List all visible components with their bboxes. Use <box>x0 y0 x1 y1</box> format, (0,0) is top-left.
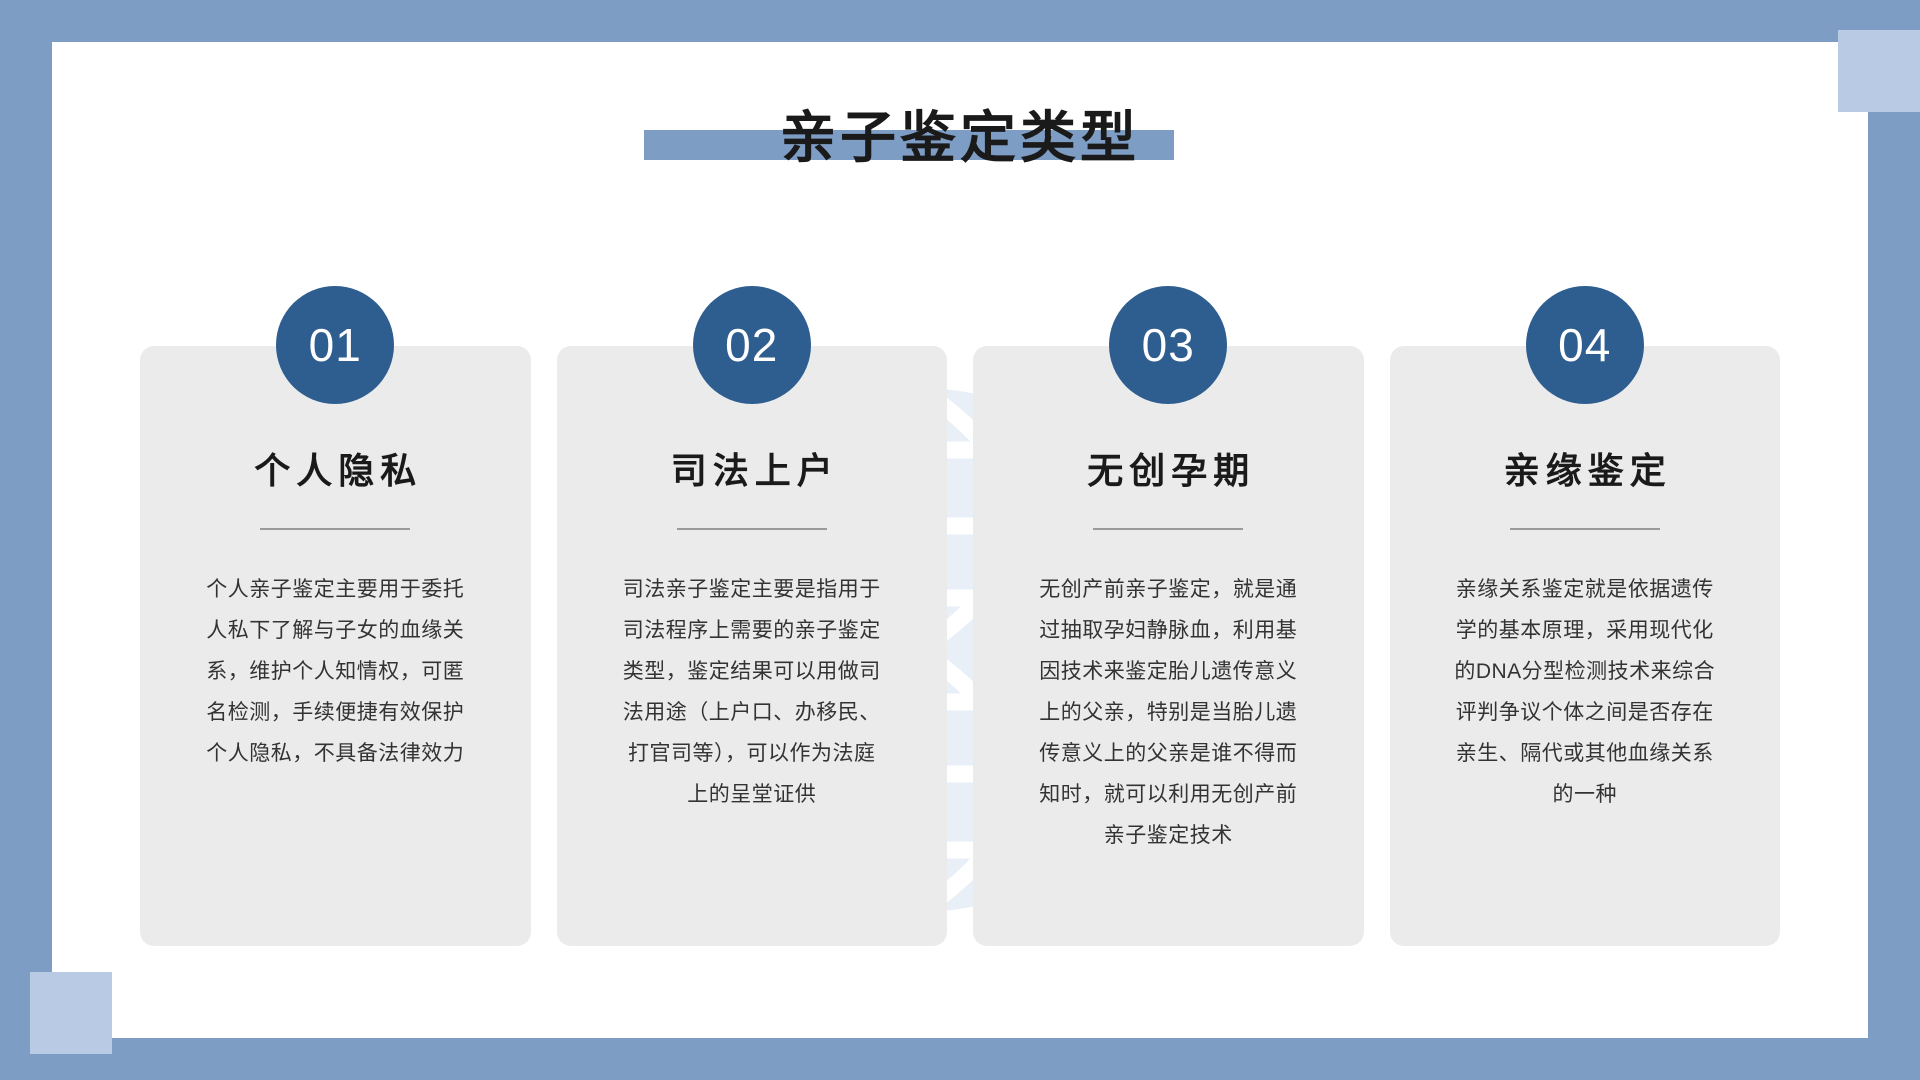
card-divider-04 <box>1510 528 1660 530</box>
title-wrap: 亲子鉴定类型 <box>774 110 1146 166</box>
card-body-02: 司法亲子鉴定主要是指用于司法程序上需要的亲子鉴定类型，鉴定结果可以用做司法用途（… <box>618 570 886 816</box>
accent-square-bottom-left <box>30 972 112 1054</box>
card-badge-01: 01 <box>276 286 394 404</box>
card-divider-01 <box>260 528 410 530</box>
slide-root: 亲子鉴定类型 01 个人隐私 个人亲子鉴定主要用于委托人私下了解与子女的血缘关系… <box>0 0 1920 1080</box>
card-body-03: 无创产前亲子鉴定，就是通过抽取孕妇静脉血，利用基因技术来鉴定胎儿遗传意义上的父亲… <box>1034 570 1302 857</box>
card-heading-04: 亲缘鉴定 <box>1498 442 1672 494</box>
card-03[interactable]: 03 无创孕期 无创产前亲子鉴定，就是通过抽取孕妇静脉血，利用基因技术来鉴定胎儿… <box>973 346 1364 946</box>
card-04[interactable]: 04 亲缘鉴定 亲缘关系鉴定就是依据遗传学的基本原理，采用现代化的DNA分型检测… <box>1390 346 1781 946</box>
card-divider-02 <box>677 528 827 530</box>
card-body-01: 个人亲子鉴定主要用于委托人私下了解与子女的血缘关系，维护个人知情权，可匿名检测，… <box>201 570 469 775</box>
card-heading-01: 个人隐私 <box>248 442 422 494</box>
card-02[interactable]: 02 司法上户 司法亲子鉴定主要是指用于司法程序上需要的亲子鉴定类型，鉴定结果可… <box>557 346 948 946</box>
card-heading-02: 司法上户 <box>665 442 839 494</box>
card-divider-03 <box>1093 528 1243 530</box>
page-title: 亲子鉴定类型 <box>780 110 1140 166</box>
card-heading-03: 无创孕期 <box>1081 442 1255 494</box>
title-block: 亲子鉴定类型 <box>0 98 1920 178</box>
card-badge-02: 02 <box>693 286 811 404</box>
card-badge-04: 04 <box>1526 286 1644 404</box>
card-badge-03: 03 <box>1109 286 1227 404</box>
card-01[interactable]: 01 个人隐私 个人亲子鉴定主要用于委托人私下了解与子女的血缘关系，维护个人知情… <box>140 346 531 946</box>
cards-row: 01 个人隐私 个人亲子鉴定主要用于委托人私下了解与子女的血缘关系，维护个人知情… <box>140 346 1780 946</box>
card-body-04: 亲缘关系鉴定就是依据遗传学的基本原理，采用现代化的DNA分型检测技术来综合评判争… <box>1451 570 1719 816</box>
